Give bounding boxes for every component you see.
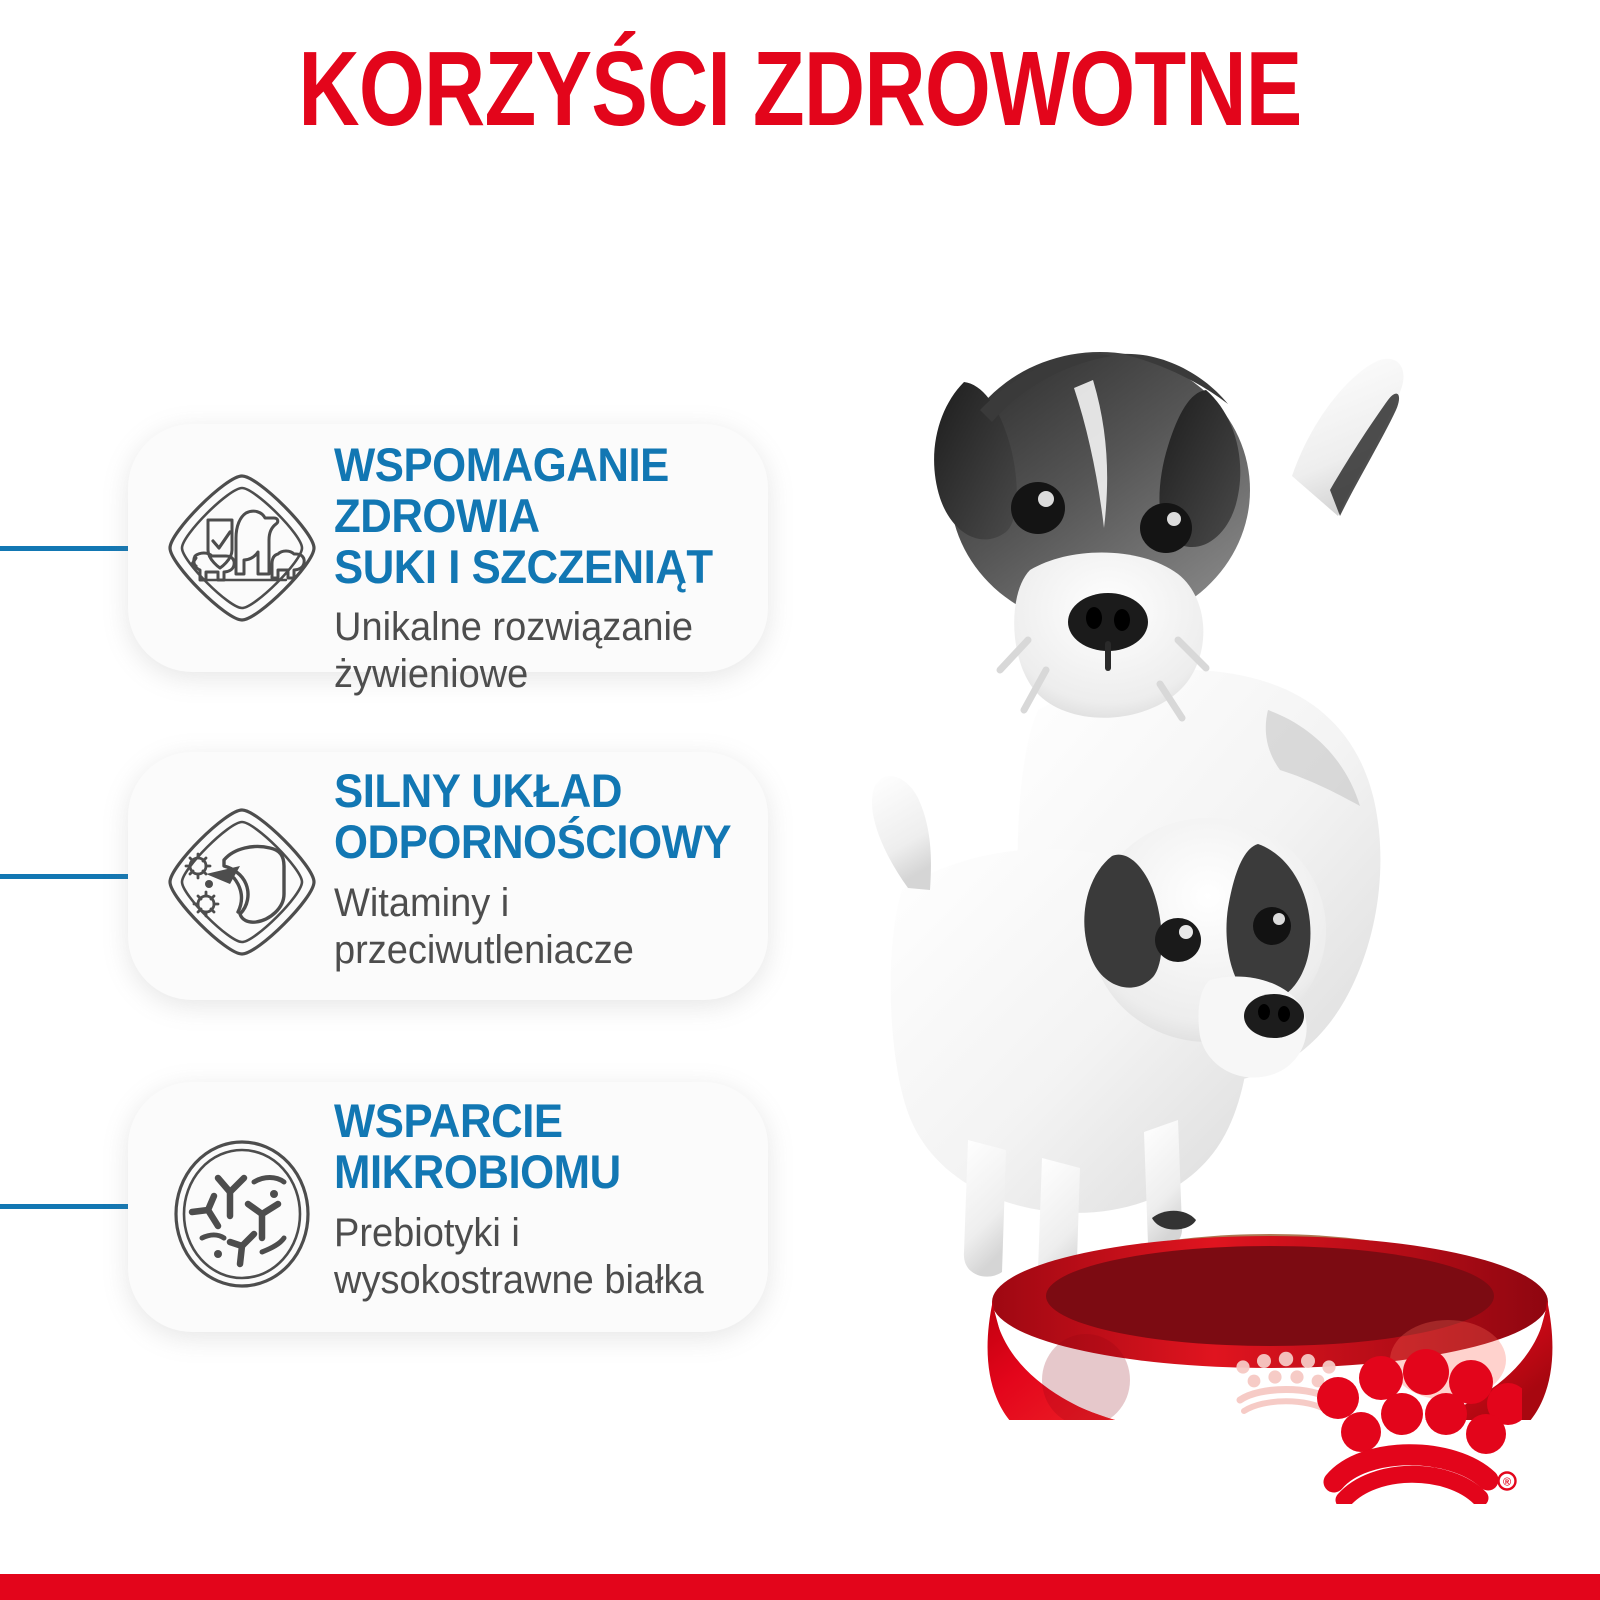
page-title: KORZYŚCI ZDROWOTNE [160,36,1440,142]
bottom-red-bar [0,1574,1600,1600]
royal-canin-crown-logo: ® [1292,1334,1522,1504]
shield-deflecting-germs-icon [162,802,322,962]
benefit-text-2: SILNY UKŁAD ODPORNOŚCIOWY Witaminy i prz… [334,766,854,974]
connector-line-3 [0,1204,132,1209]
connector-line-1 [0,546,132,551]
benefit-text-1: WSPOMAGANIE ZDROWIA SUKI I SZCZENIĄT Uni… [334,440,854,699]
benefit-text-3: WSPARCIE MIKROBIOMU Prebiotyki i wysokos… [334,1096,854,1304]
benefit-subtitle-3: Prebiotyki i wysokostrawne białka [334,1210,828,1304]
dog-with-puppies-shield-icon [162,468,322,628]
product-photo: ROYAL CANIN® [860,240,1600,1420]
benefit-heading-2: SILNY UKŁAD ODPORNOŚCIOWY [334,766,818,868]
microbiome-bacteria-icon [162,1134,322,1294]
benefit-heading-1: WSPOMAGANIE ZDROWIA SUKI I SZCZENIĄT [334,440,818,592]
registered-mark-text: ® [1503,1477,1511,1489]
benefit-subtitle-2: Witaminy i przeciwutleniacze [334,880,828,974]
connector-line-2 [0,874,132,879]
benefit-subtitle-1: Unikalne rozwiązanie żywieniowe [334,604,828,698]
benefit-heading-3: WSPARCIE MIKROBIOMU [334,1096,818,1198]
